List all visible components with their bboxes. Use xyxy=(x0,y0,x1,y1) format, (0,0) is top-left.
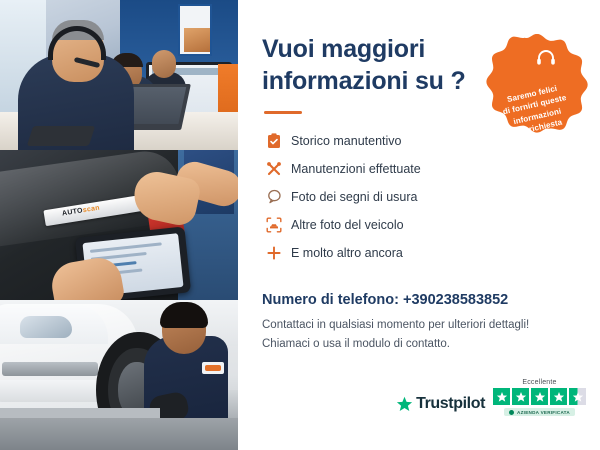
crossed-tools-icon xyxy=(262,161,286,177)
phone-value[interactable]: +390238583852 xyxy=(403,292,508,308)
page-title: Vuoi maggiori informazioni su ? xyxy=(262,34,477,97)
photo-column: AUTOscan xyxy=(0,0,238,450)
wall-poster xyxy=(178,4,212,56)
trustpilot-logo: Trustpilot xyxy=(396,395,485,416)
strip-brand-label: AUTOscan xyxy=(62,205,101,218)
verified-label: AZIENDA VERIFICATA xyxy=(517,410,570,415)
lift-platform xyxy=(0,418,238,450)
list-item-label: Foto dei segni di usura xyxy=(286,190,417,204)
vehicle-inspection-photo: AUTOscan xyxy=(0,150,238,300)
callout-badge: Saremo felici di fornirti queste informa… xyxy=(484,34,588,138)
car-scan-icon xyxy=(262,217,286,233)
star-icon xyxy=(550,388,567,405)
advertisement-banner: AUTOscan xyxy=(0,0,600,450)
list-item: E molto altro ancora xyxy=(262,242,578,263)
feature-list: Storico manutentivo Manutenzioni effettu… xyxy=(262,130,578,263)
star-icon xyxy=(396,396,413,413)
car-grille xyxy=(2,362,98,376)
lift-platform-top xyxy=(0,408,160,418)
trustpilot-name: Trustpilot xyxy=(416,395,485,413)
call-center-photo xyxy=(0,0,238,150)
car-bumper xyxy=(0,380,106,402)
star-icon xyxy=(493,388,510,405)
trustpilot-rating: Eccellente xyxy=(493,379,586,416)
desk-tablet xyxy=(27,126,95,146)
star-half-icon xyxy=(569,388,586,405)
contact-line-1: Contattaci in qualsiasi momento per ulte… xyxy=(262,316,529,335)
list-item: Manutenzioni effettuate xyxy=(262,158,578,179)
list-item-label: E molto altro ancora xyxy=(286,246,403,260)
rating-label: Eccellente xyxy=(522,379,556,386)
list-item-label: Manutenzioni effettuate xyxy=(286,162,421,176)
star-rating xyxy=(493,388,586,405)
tire-check-photo xyxy=(0,300,238,450)
list-item-label: Storico manutentivo xyxy=(286,134,401,148)
list-item: Altre foto del veicolo xyxy=(262,214,578,235)
speech-bubble-icon xyxy=(262,189,286,204)
car-headlight xyxy=(20,316,72,338)
star-icon xyxy=(512,388,529,405)
verified-badge: AZIENDA VERIFICATA xyxy=(504,408,575,416)
star-icon xyxy=(531,388,548,405)
plus-icon xyxy=(262,245,286,261)
phone-label: Numero di telefono: xyxy=(262,292,399,308)
title-divider xyxy=(264,111,302,114)
content-panel: Vuoi maggiori informazioni su ? Storico … xyxy=(238,0,600,450)
contact-subtext: Contattaci in qualsiasi momento per ulte… xyxy=(262,316,529,353)
phone-number[interactable]: Numero di telefono: +390238583852 xyxy=(262,292,508,308)
uniform-logo-patch xyxy=(202,362,224,374)
trustpilot-widget[interactable]: Trustpilot Eccellente xyxy=(396,379,586,416)
contact-line-2: Chiamaci o usa il modulo di contatto. xyxy=(262,335,529,354)
background-person-head xyxy=(152,50,176,78)
list-item-label: Altre foto del veicolo xyxy=(286,218,404,232)
clipboard-check-icon xyxy=(262,133,286,149)
list-item: Foto dei segni di usura xyxy=(262,186,578,207)
verified-check-icon xyxy=(509,410,514,415)
